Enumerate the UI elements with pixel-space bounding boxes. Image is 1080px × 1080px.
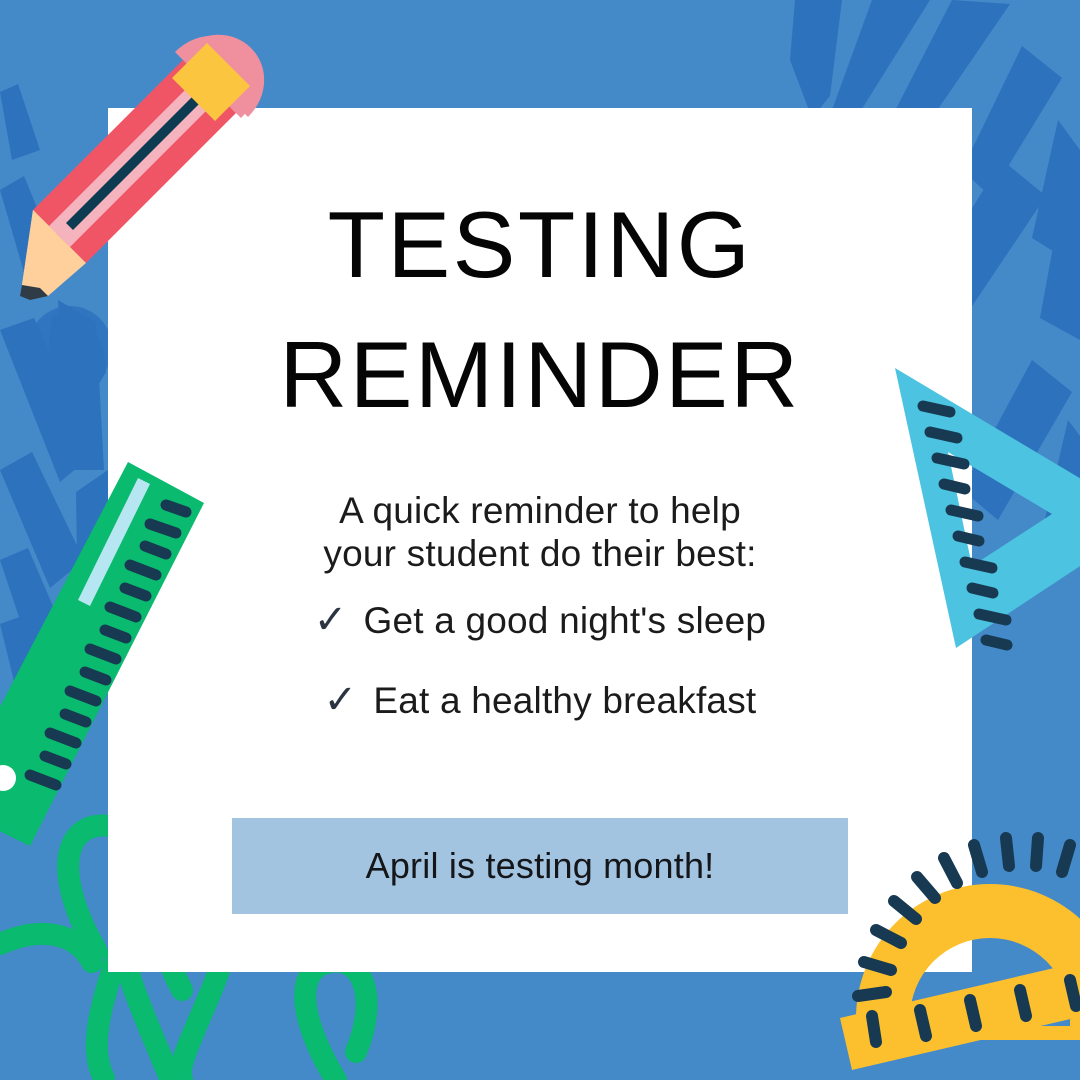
pencil-icon: [20, 35, 264, 300]
green-ruler-icon: [0, 462, 204, 846]
cyan-set-square-icon: [895, 368, 1080, 648]
poster-canvas: TESTING REMINDER A quick reminder to hel…: [0, 0, 1080, 1080]
yellow-protractor-icon: [840, 838, 1080, 1070]
school-supplies-illustrations: [0, 0, 1080, 1080]
